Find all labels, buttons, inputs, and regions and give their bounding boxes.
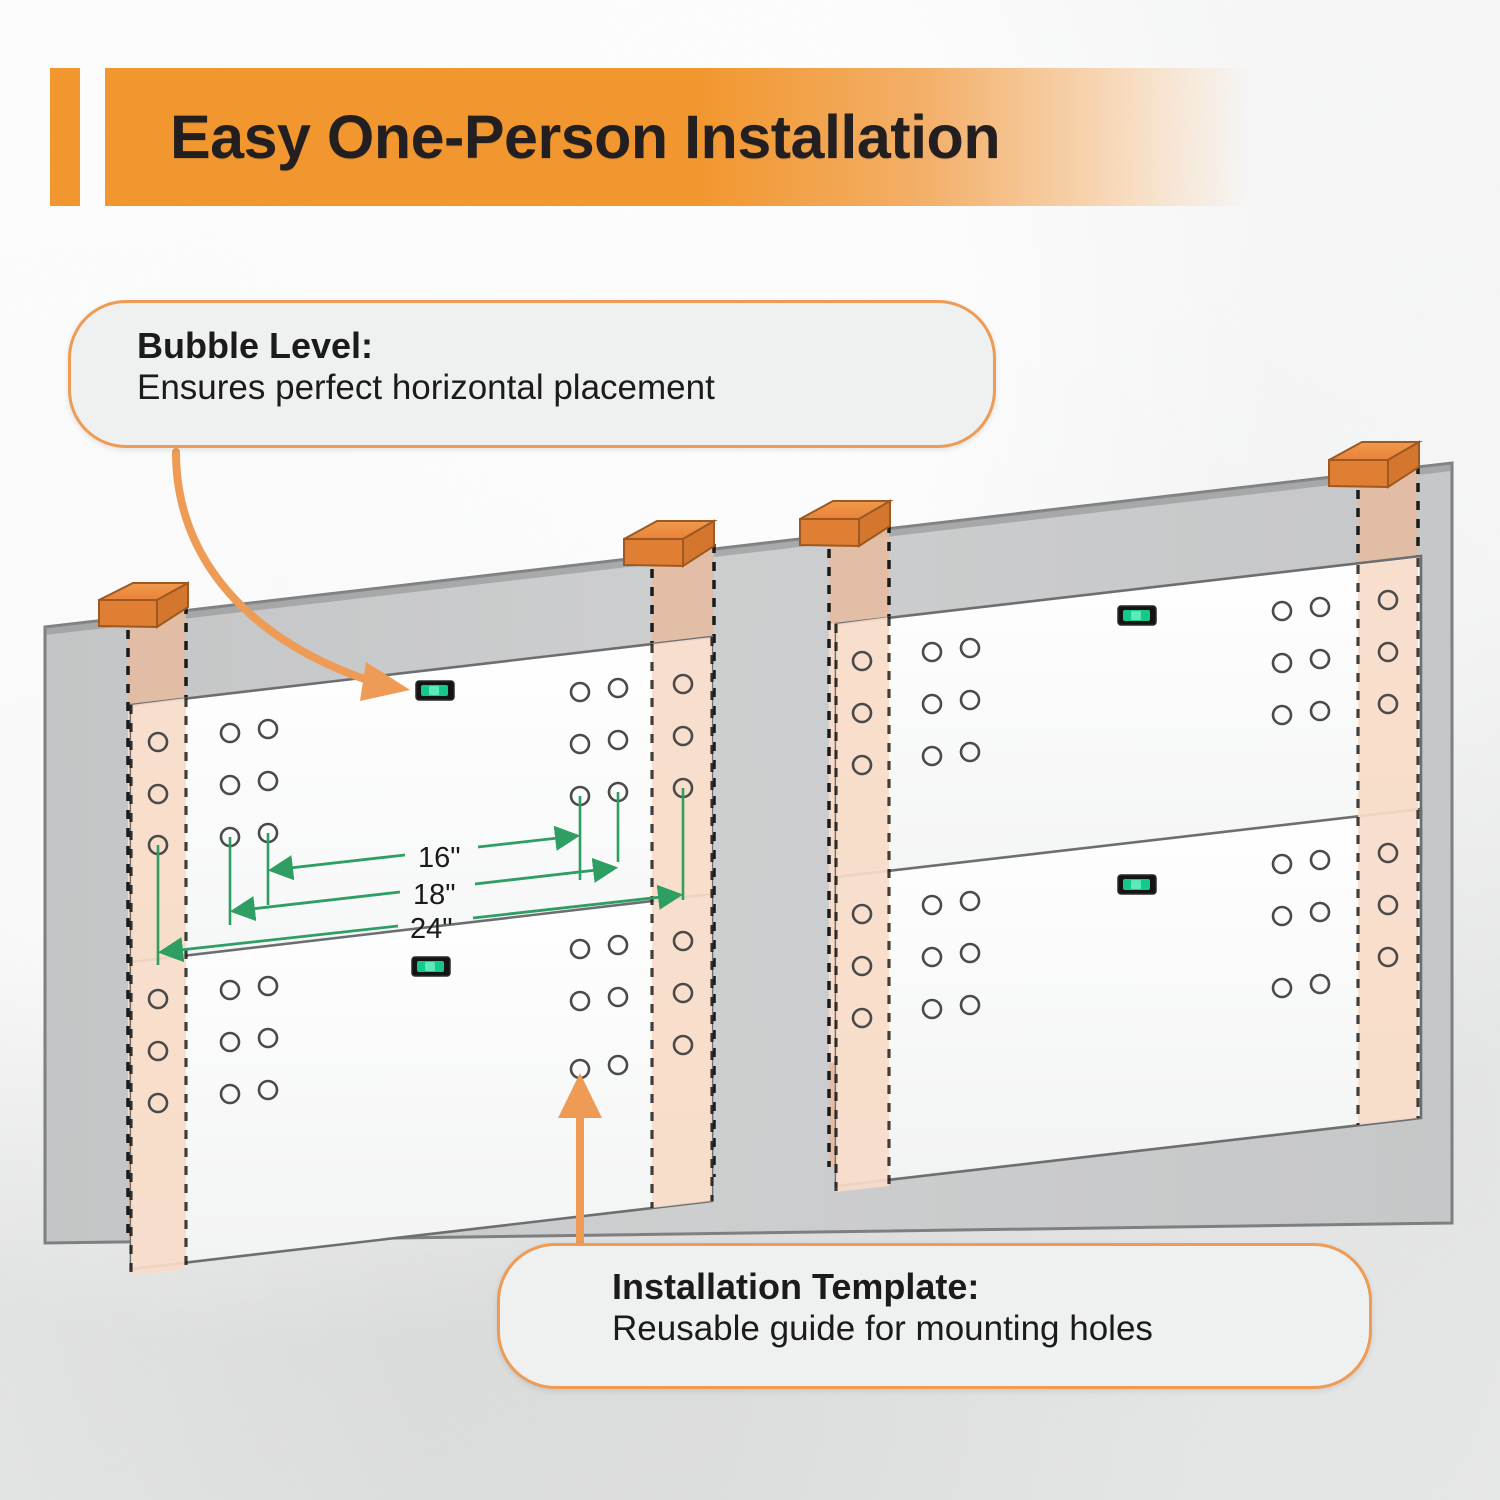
bubble-level-indicator-right-upper — [1118, 606, 1156, 625]
dimension-label-24in: 24" — [410, 913, 453, 946]
dimension-label-18in: 18" — [413, 879, 456, 912]
page-title: Easy One-Person Installation — [170, 68, 1000, 206]
dimension-label-16in: 16" — [418, 842, 461, 875]
bubble-level-indicator-left-lower — [412, 957, 450, 976]
callout-bubble-level: Bubble Level: Ensures perfect horizontal… — [68, 300, 996, 448]
template-right-lower — [836, 809, 1421, 1186]
bubble-level-indicator-right-lower — [1118, 875, 1156, 894]
callout-installation-template: Installation Template: Reusable guide fo… — [497, 1243, 1372, 1389]
bubble-level-indicator-left-upper — [416, 681, 454, 700]
banner-accent-bar — [50, 68, 80, 206]
callout-bubble-level-subtitle: Ensures perfect horizontal placement — [137, 367, 993, 410]
header-banner: Easy One-Person Installation — [50, 68, 1250, 206]
callout-installation-template-title: Installation Template: — [612, 1266, 1369, 1308]
callout-installation-template-subtitle: Reusable guide for mounting holes — [612, 1308, 1369, 1351]
callout-bubble-level-title: Bubble Level: — [137, 325, 993, 367]
